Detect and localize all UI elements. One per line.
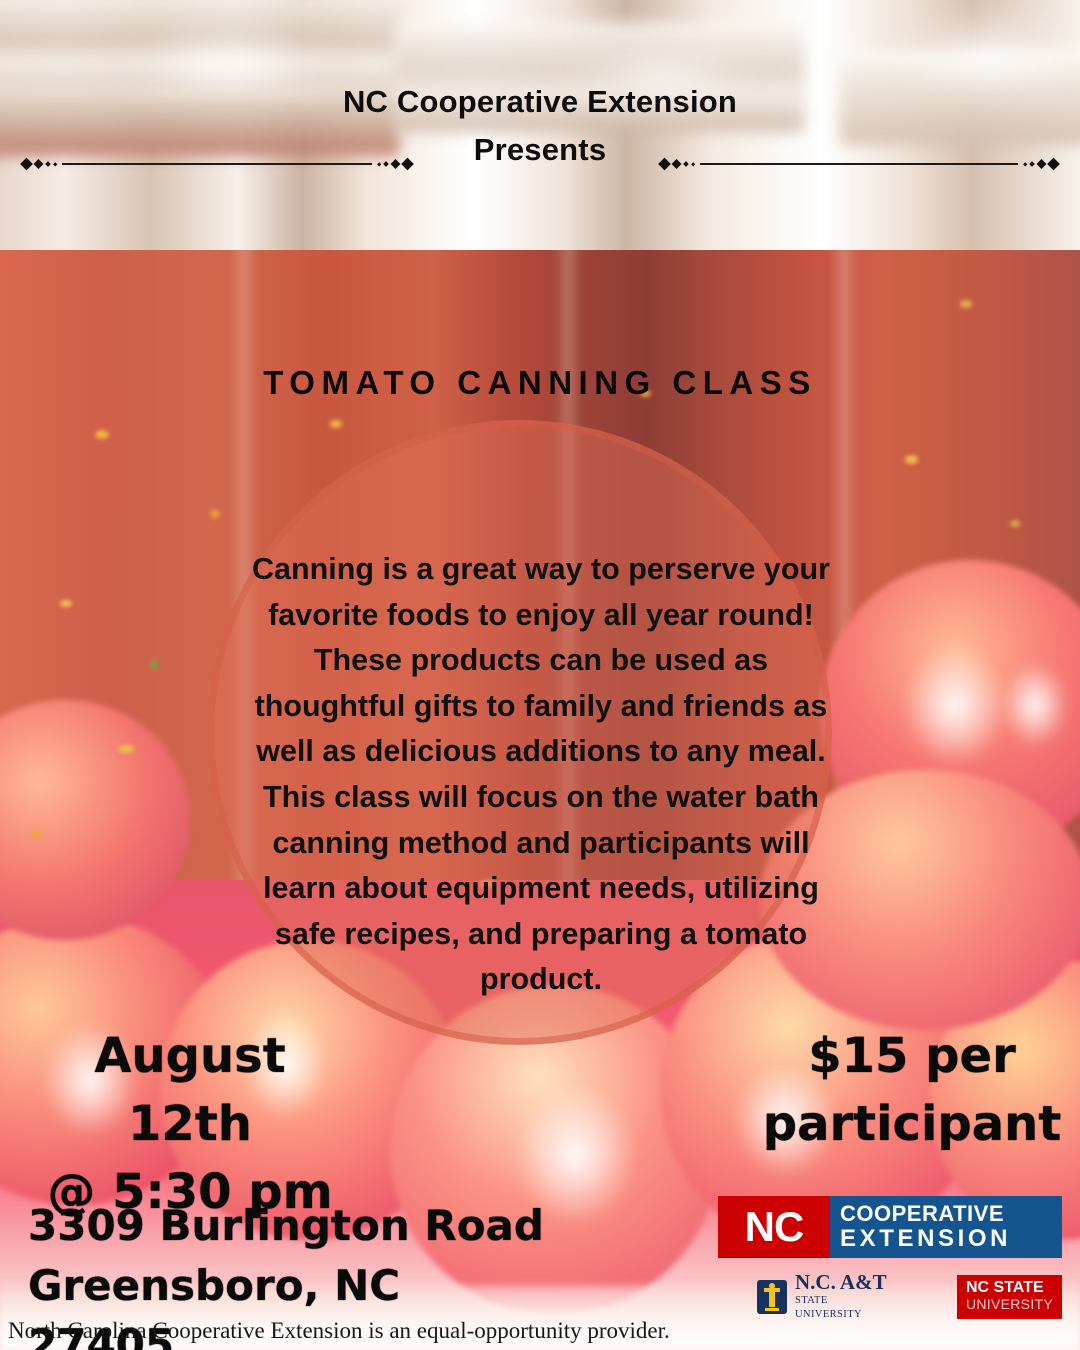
event-price: $15 per participant [762,1022,1062,1158]
salsa-fleck [30,830,41,838]
nc-cooperative-extension-logo: NC COOPERATIVE EXTENSION [718,1196,1062,1258]
divider-line [62,163,372,165]
nc-logo-mark: NC [718,1196,830,1258]
title-arch: Preserve It! [0,196,1080,386]
ncat-wordmark: N.C. A&T STATE UNIVERSITY [795,1272,895,1321]
salsa-fleck [60,600,72,607]
partner-logos: N.C. A&T STATE UNIVERSITY NC STATE UNIVE… [718,1272,1062,1321]
diamond-ornament-icon [1018,158,1058,170]
nc-state-subtitle: UNIVERSITY [966,1296,1053,1312]
ncat-logo: N.C. A&T STATE UNIVERSITY [756,1272,895,1321]
event-date: August 12th [30,1022,350,1158]
divider-right [660,157,1058,171]
extension-text: EXTENSION [840,1226,1062,1252]
price-unit: participant [762,1090,1062,1158]
logo-block: NC COOPERATIVE EXTENSION N.C. A&T [718,1196,1062,1321]
nc-state-logo: NC STATE UNIVERSITY [957,1275,1062,1319]
divider-line [700,163,1018,165]
salsa-fleck [330,420,342,428]
tomato-highlight [900,640,1010,770]
flyer-canvas: NC Cooperative Extension Presents Preser… [0,0,1080,1350]
salsa-fleck [905,455,918,464]
nc-state-name: NC STATE [966,1280,1053,1297]
description-paragraph: Canning is a great way to perserve your … [246,547,836,1003]
diamond-ornament-icon [22,158,62,170]
diamond-ornament-icon [372,158,412,170]
cooperative-extension-wordmark: COOPERATIVE EXTENSION [830,1196,1062,1258]
salsa-fleck [1010,520,1020,527]
organization-name: NC Cooperative Extension [0,78,1080,126]
tomato-highlight [1000,660,1070,750]
divider-left [22,157,412,171]
aggie-shield-icon [756,1279,788,1315]
salsa-fleck [210,510,220,518]
cooperative-text: COOPERATIVE [840,1202,1062,1226]
subtitle: TOMATO CANNING CLASS [0,364,1080,402]
salsa-fleck [150,660,159,669]
equal-opportunity-disclaimer: North Carolina Cooperative Extension is … [8,1318,908,1344]
price-amount: $15 per [762,1022,1062,1090]
ncat-name: N.C. A&T [795,1270,887,1294]
salsa-fleck [118,745,134,753]
address-street: 3309 Burlington Road [28,1196,548,1256]
nc-logo-text: NC [745,1203,804,1251]
diamond-ornament-icon [660,158,700,170]
salsa-fleck [95,430,109,439]
